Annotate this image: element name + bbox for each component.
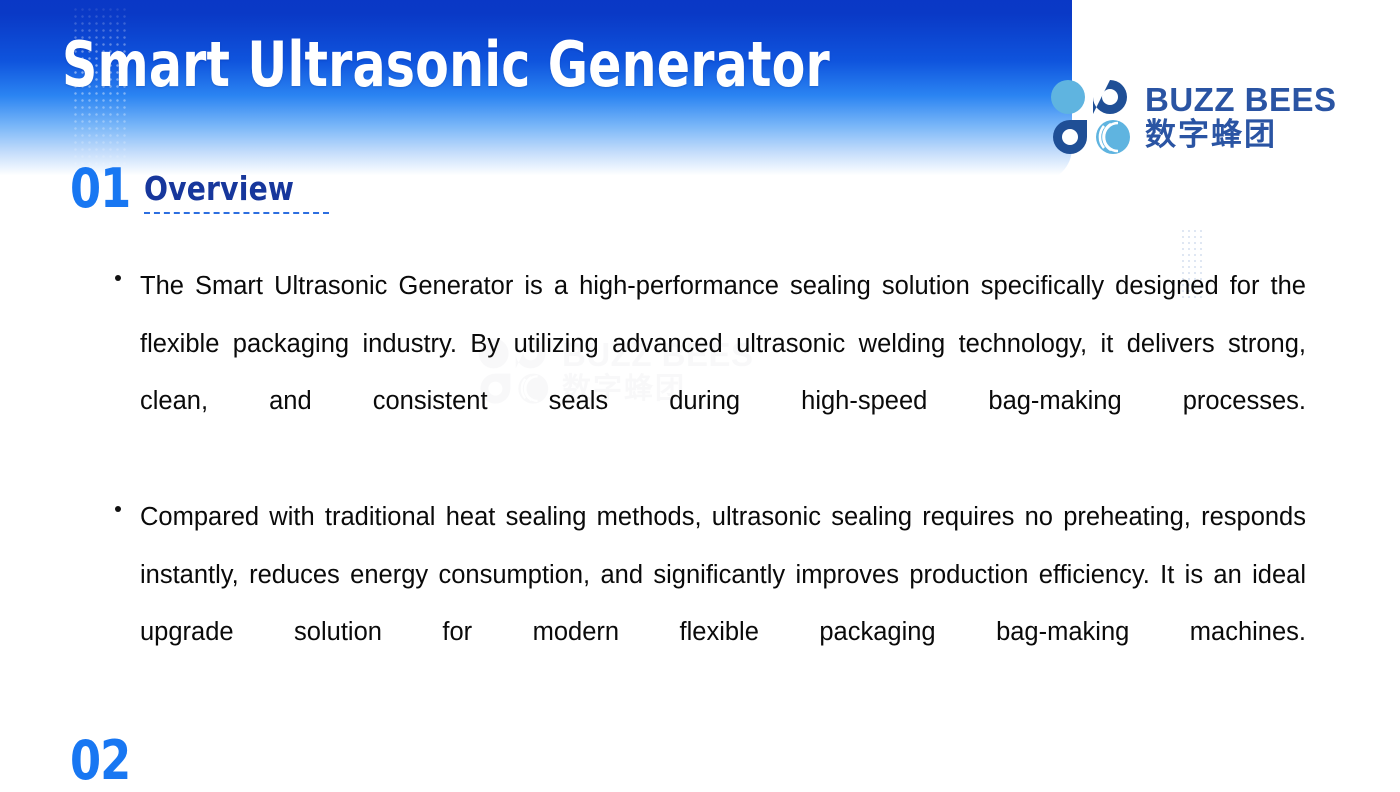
brand-logo: BUZZ BEES 数字蜂团 xyxy=(1048,78,1337,156)
page-title: Smart Ultrasonic Generator xyxy=(62,34,830,96)
bullet-dot-icon xyxy=(115,275,121,281)
brand-name-en: BUZZ BEES xyxy=(1145,83,1337,117)
section-number: 01 xyxy=(70,164,130,214)
bullet-dot-icon xyxy=(115,506,121,512)
list-item: Compared with traditional heat sealing m… xyxy=(108,489,1306,719)
section-title-wrap: Overview xyxy=(144,172,302,214)
overview-bullet-list: The Smart Ultrasonic Generator is a high… xyxy=(108,258,1306,720)
brand-logo-text: BUZZ BEES 数字蜂团 xyxy=(1145,83,1337,151)
section-heading: 01 Overview xyxy=(70,164,302,214)
bullet-text: The Smart Ultrasonic Generator is a high… xyxy=(140,258,1306,488)
section-underline xyxy=(144,212,329,214)
next-section-number: 02 xyxy=(70,736,130,786)
bullet-text: Compared with traditional heat sealing m… xyxy=(140,489,1306,719)
section-title: Overview xyxy=(144,172,294,206)
brand-name-cn: 数字蜂团 xyxy=(1145,119,1337,151)
header-banner: Smart Ultrasonic Generator xyxy=(0,0,1072,182)
list-item: The Smart Ultrasonic Generator is a high… xyxy=(108,258,1306,488)
buzz-bees-logo-icon xyxy=(1048,78,1132,156)
